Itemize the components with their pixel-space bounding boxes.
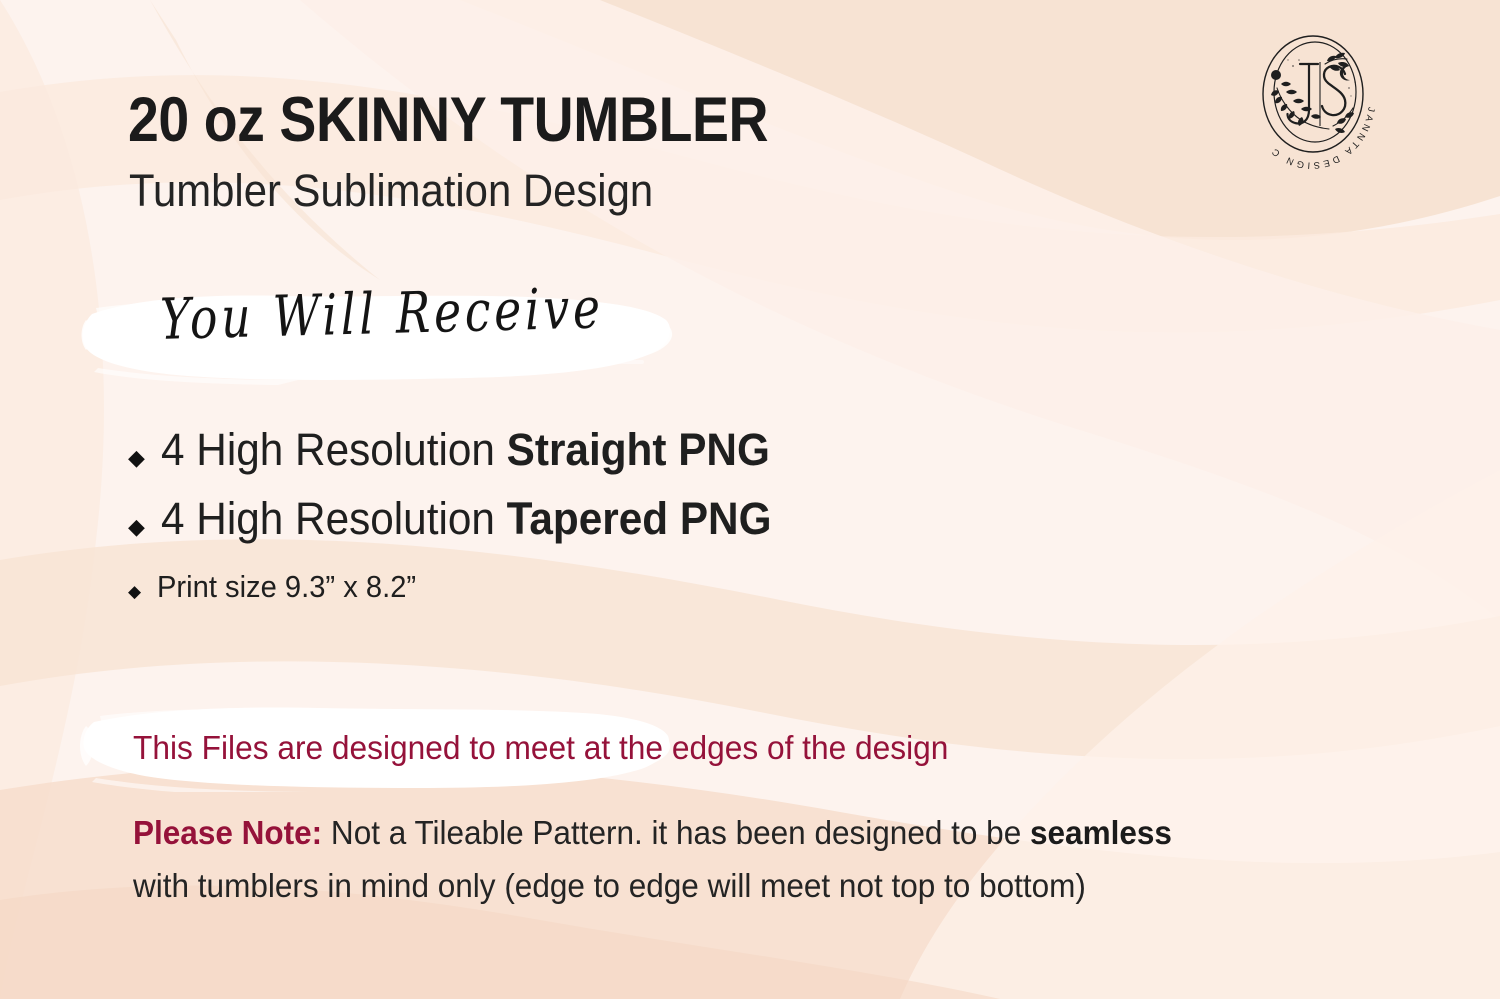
section-heading-you-will-receive: You Will Receive — [160, 280, 605, 348]
sparkle-icon — [1350, 95, 1351, 96]
brand-logo: JANNTA DESIGN CO — [1237, 22, 1389, 174]
sparkle-icon — [1348, 87, 1350, 89]
note-text-pre: Not a Tileable Pattern. it has been desi… — [322, 814, 1030, 851]
list-item-text: 4 High Resolution — [161, 424, 507, 475]
list-item: ◆ Print size 9.3” x 8.2” — [128, 569, 810, 629]
list-item-text: 4 High Resolution — [161, 493, 507, 544]
sparkle-icon — [1287, 59, 1288, 60]
product-info-card: 20 oz SKINNY TUMBLER Tumbler Sublimation… — [0, 0, 1500, 999]
page-title: 20 oz SKINNY TUMBLER — [128, 88, 768, 152]
dot-icon — [1271, 70, 1281, 80]
note-label: Please Note: — [133, 814, 322, 851]
note-line-1: Please Note: Not a Tileable Pattern. it … — [133, 806, 1317, 859]
list-item-emphasis: Tapered PNG — [507, 493, 772, 544]
sparkle-icon — [1298, 59, 1300, 61]
note-emphasis: seamless — [1030, 814, 1172, 851]
list-item: ◆ 4 High Resolution Tapered PNG — [128, 493, 810, 562]
list-item-label: 4 High Resolution Straight PNG — [161, 424, 770, 476]
page-subtitle: Tumbler Sublimation Design — [129, 166, 653, 216]
diamond-bullet-icon: ◆ — [128, 516, 145, 538]
laurel-branch-icon — [1333, 108, 1354, 133]
list-item-label: Print size 9.3” x 8.2” — [157, 569, 416, 605]
list-item-label: 4 High Resolution Tapered PNG — [161, 493, 771, 545]
sparkle-icon — [1354, 81, 1356, 83]
note-line-2: with tumblers in mind only (edge to edge… — [133, 859, 1317, 912]
logo-outer-oval — [1263, 36, 1363, 152]
edges-callout: This Files are designed to meet at the e… — [133, 731, 948, 764]
list-item-emphasis: Straight PNG — [507, 424, 770, 475]
list-item: ◆ 4 High Resolution Straight PNG — [128, 424, 810, 493]
sparkle-icon — [1292, 65, 1294, 67]
list-item-text: Print size 9.3” x 8.2” — [157, 569, 416, 604]
logo-curved-text: JANNTA DESIGN CO — [1237, 22, 1378, 172]
diamond-bullet-icon: ◆ — [128, 447, 145, 469]
feature-list: ◆ 4 High Resolution Straight PNG ◆ 4 Hig… — [128, 424, 810, 629]
diamond-bullet-icon: ◆ — [128, 583, 141, 600]
please-note-paragraph: Please Note: Not a Tileable Pattern. it … — [133, 806, 1373, 913]
